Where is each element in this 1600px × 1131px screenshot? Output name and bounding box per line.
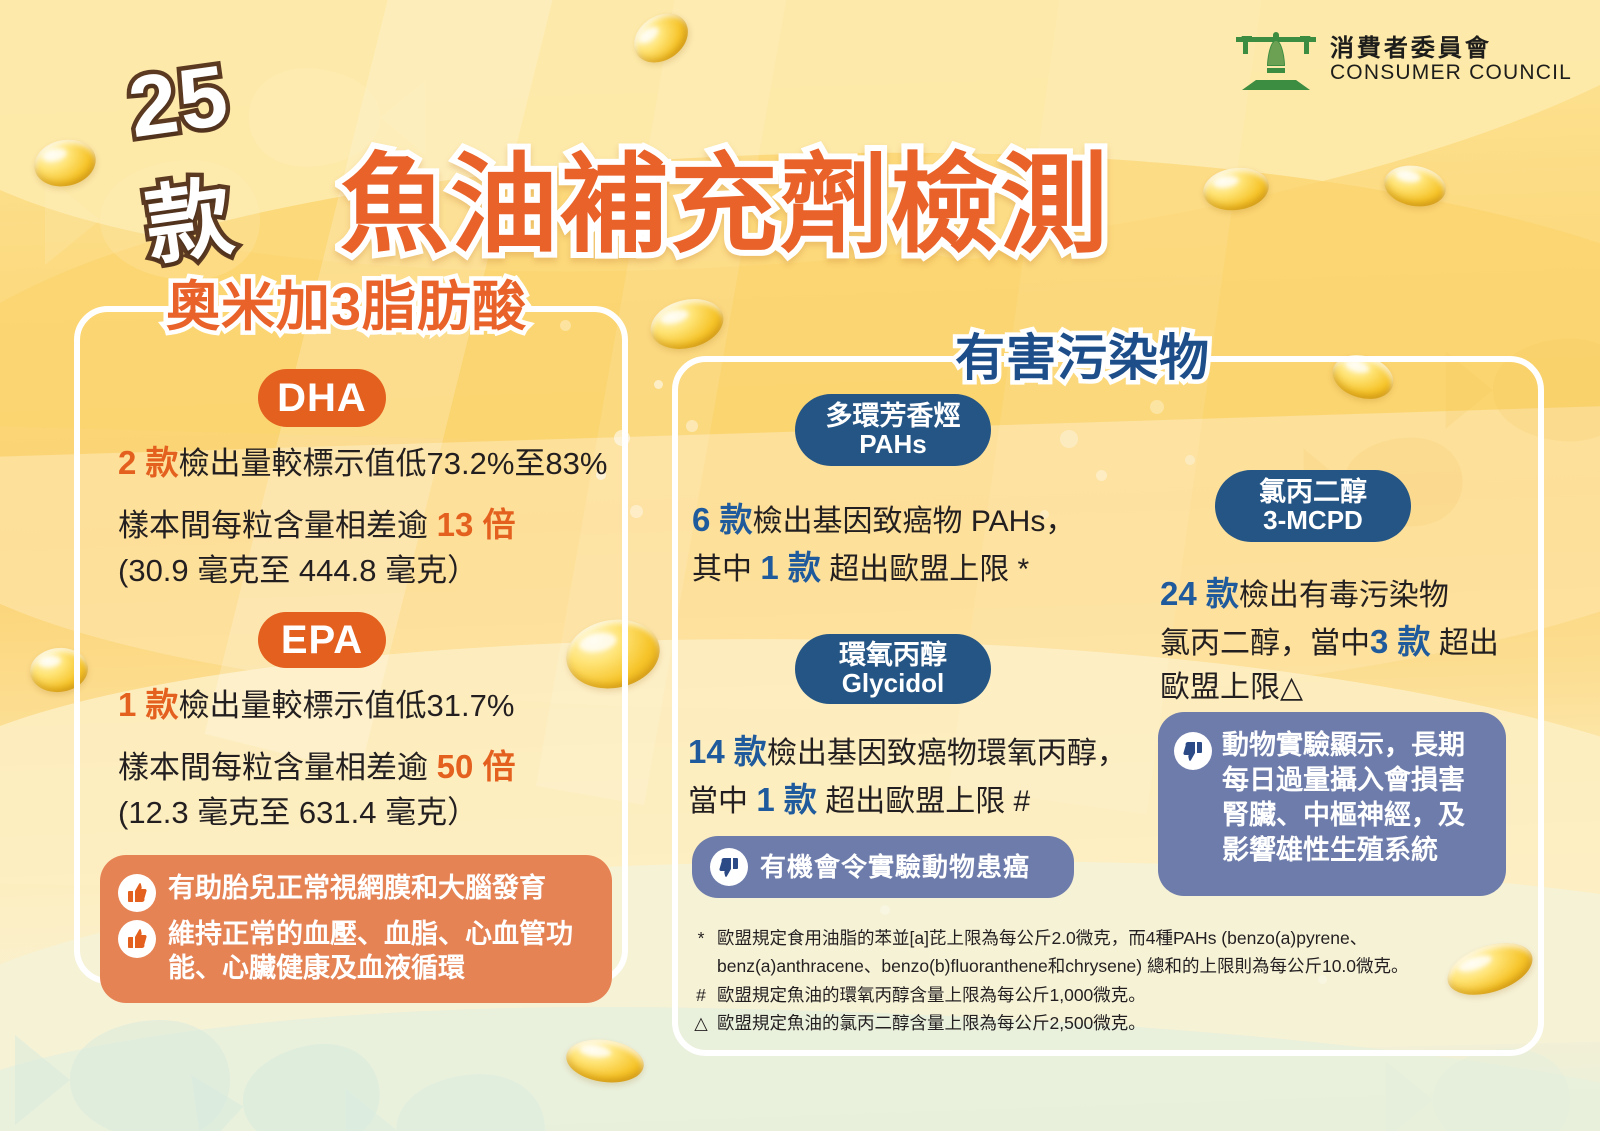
- glycidol-line-2: 當中 1 款 超出歐盟上限 #: [688, 777, 1030, 824]
- footnote-text: 歐盟規定食用油脂的苯並[a]芘上限為每公斤2.0微克，而4種PAHs (benz…: [717, 924, 1484, 952]
- organ-warning-line-2: 每日過量攝入會損害: [1222, 763, 1465, 798]
- glycidol-line2-pre: 當中: [688, 785, 756, 818]
- footnote-mark: △: [694, 1009, 708, 1037]
- consumer-council-logo: 消費者委員會 CONSUMER COUNCIL: [1234, 28, 1572, 92]
- epa-count: 1 款: [118, 686, 179, 723]
- glycidol-pill-label-en: Glycidol: [842, 670, 945, 698]
- epa-variation: 50 倍: [437, 748, 516, 785]
- contaminants-panel-title: 有害污染物: [955, 318, 1210, 390]
- mcpd-line-3: 歐盟上限△: [1160, 667, 1303, 710]
- footnote-text: benz(a)anthracene、benzo(b)fluoranthene和c…: [717, 952, 1484, 980]
- mcpd-line-2: 氯丙二醇，當中3 款 超出: [1160, 619, 1499, 666]
- benefit-item: 有助胎兒正常視網膜和大腦發育: [118, 871, 592, 912]
- mcpd-pill-label-en: 3-MCPD: [1263, 507, 1363, 535]
- dha-line1-rest: 檢出量較標示值低73.2%至83%: [179, 446, 608, 481]
- pahs-line1-rest: 檢出基因致癌物 PAHs，: [753, 505, 1076, 538]
- pahs-count: 6 款: [692, 501, 753, 538]
- epa-pill-label: EPA: [281, 619, 363, 661]
- glycidol-line1-rest: 檢出基因致癌物環氧丙醇，: [767, 737, 1127, 770]
- mcpd-line-1: 24 款檢出有毒污染物: [1160, 571, 1449, 618]
- dha-line2-pre: 樣本間每粒含量相差逾: [118, 508, 437, 543]
- epa-line2-pre: 樣本間每粒含量相差逾: [118, 750, 437, 785]
- footnote-item: # 歐盟規定魚油的環氧丙醇含量上限為每公斤1,000微克。: [694, 981, 1484, 1009]
- logo-name-cn: 消費者委員會: [1330, 36, 1572, 61]
- dha-line-2: 樣本間每粒含量相差逾 13 倍: [118, 502, 516, 549]
- mcpd-line2-pre: 氯丙二醇，當中: [1160, 627, 1370, 660]
- pahs-pill: 多環芳香烴 PAHs: [795, 394, 991, 466]
- epa-line-2: 樣本間每粒含量相差逾 50 倍: [118, 744, 516, 791]
- footnotes: * 歐盟規定食用油脂的苯並[a]芘上限為每公斤2.0微克，而4種PAHs (be…: [694, 924, 1484, 1037]
- organ-damage-warning-box: 動物實驗顯示，長期 每日過量攝入會損害 腎臟、中樞神經，及 影響雄性生殖系統: [1158, 712, 1506, 896]
- balance-scale-icon: [1234, 28, 1318, 92]
- epa-pill: EPA: [258, 612, 386, 668]
- footnote-mark: *: [694, 924, 708, 981]
- footnote-text: 歐盟規定魚油的環氧丙醇含量上限為每公斤1,000微克。: [717, 981, 1484, 1009]
- footnote-item: * 歐盟規定食用油脂的苯並[a]芘上限為每公斤2.0微克，而4種PAHs (be…: [694, 924, 1484, 981]
- epa-line-1: 1 款檢出量較標示值低31.7%: [118, 682, 514, 729]
- benefit-item: 維持正常的血壓、血脂、心血管功能、心臟健康及血液循環: [118, 917, 592, 985]
- pahs-pill-label-en: PAHs: [859, 431, 926, 459]
- glycidol-line2-rest: 超出歐盟上限 #: [817, 785, 1030, 818]
- mcpd-pill: 氯丙二醇 3-MCPD: [1215, 470, 1411, 542]
- pahs-line-2: 其中 1 款 超出歐盟上限 *: [692, 545, 1029, 592]
- footnote-item: △ 歐盟規定魚油的氯丙二醇含量上限為每公斤2,500微克。: [694, 1009, 1484, 1037]
- epa-line1-rest: 檢出量較標示值低31.7%: [179, 688, 515, 723]
- footnote-text: 歐盟規定魚油的氯丙二醇含量上限為每公斤2,500微克。: [717, 1009, 1484, 1037]
- dha-line-3: (30.9 毫克至 444.8 毫克）: [118, 549, 478, 593]
- thumbs-up-icon: [118, 874, 156, 912]
- dha-variation: 13 倍: [437, 506, 516, 543]
- dha-count: 2 款: [118, 444, 179, 481]
- organ-warning-line-1: 動物實驗顯示，長期: [1222, 728, 1465, 763]
- fish-silhouette: [340, 1065, 555, 1131]
- cancer-warning-box: 有機會令實驗動物患癌: [692, 836, 1074, 898]
- dha-pill-label: DHA: [277, 377, 367, 419]
- pahs-pill-label-cn: 多環芳香烴: [826, 402, 961, 431]
- pahs-line2-pre: 其中: [692, 553, 760, 586]
- cancer-warning-text: 有機會令實驗動物患癌: [760, 851, 1030, 884]
- mcpd-line2-rest: 超出: [1431, 627, 1499, 660]
- mcpd-pill-label-cn: 氯丙二醇: [1259, 478, 1367, 507]
- pahs-line2-rest: 超出歐盟上限 *: [821, 553, 1029, 586]
- mcpd-exceed-count: 3 款: [1370, 623, 1431, 660]
- glycidol-pill-label-cn: 環氧丙醇: [839, 641, 947, 670]
- pahs-line-1: 6 款檢出基因致癌物 PAHs，: [692, 497, 1075, 544]
- bubble: [630, 505, 643, 518]
- thumbs-down-icon: [1174, 732, 1212, 770]
- organ-warning-line-3: 腎臟、中樞神經，及: [1222, 798, 1465, 833]
- glycidol-exceed-count: 1 款: [756, 781, 817, 818]
- title-main: 魚油補充劑檢測: [340, 118, 1110, 274]
- mcpd-line1-rest: 檢出有毒污染物: [1239, 579, 1449, 612]
- mcpd-count: 24 款: [1160, 575, 1239, 612]
- organ-warning-line-4: 影響雄性生殖系統: [1222, 833, 1465, 868]
- logo-name-en: CONSUMER COUNCIL: [1330, 62, 1572, 84]
- thumbs-down-icon: [710, 848, 748, 886]
- pahs-exceed-count: 1 款: [760, 549, 821, 586]
- footnote-mark: #: [694, 981, 708, 1009]
- benefit-text-1: 有助胎兒正常視網膜和大腦發育: [168, 871, 546, 905]
- bubble: [654, 380, 663, 389]
- dha-line-1: 2 款檢出量較標示值低73.2%至83%: [118, 440, 607, 487]
- dha-pill: DHA: [258, 369, 386, 427]
- glycidol-pill: 環氧丙醇 Glycidol: [795, 634, 991, 704]
- thumbs-up-icon: [118, 920, 156, 958]
- epa-line-3: (12.3 毫克至 631.4 毫克）: [118, 791, 478, 835]
- omega3-panel-title: 奧米加3脂肪酸: [166, 262, 527, 341]
- benefit-text-2: 維持正常的血壓、血脂、心血管功能、心臟健康及血液循環: [168, 917, 592, 985]
- glycidol-line-1: 14 款檢出基因致癌物環氧丙醇，: [688, 729, 1127, 776]
- glycidol-count: 14 款: [688, 733, 767, 770]
- omega3-benefits-box: 有助胎兒正常視網膜和大腦發育 維持正常的血壓、血脂、心血管功能、心臟健康及血液循…: [100, 855, 612, 1003]
